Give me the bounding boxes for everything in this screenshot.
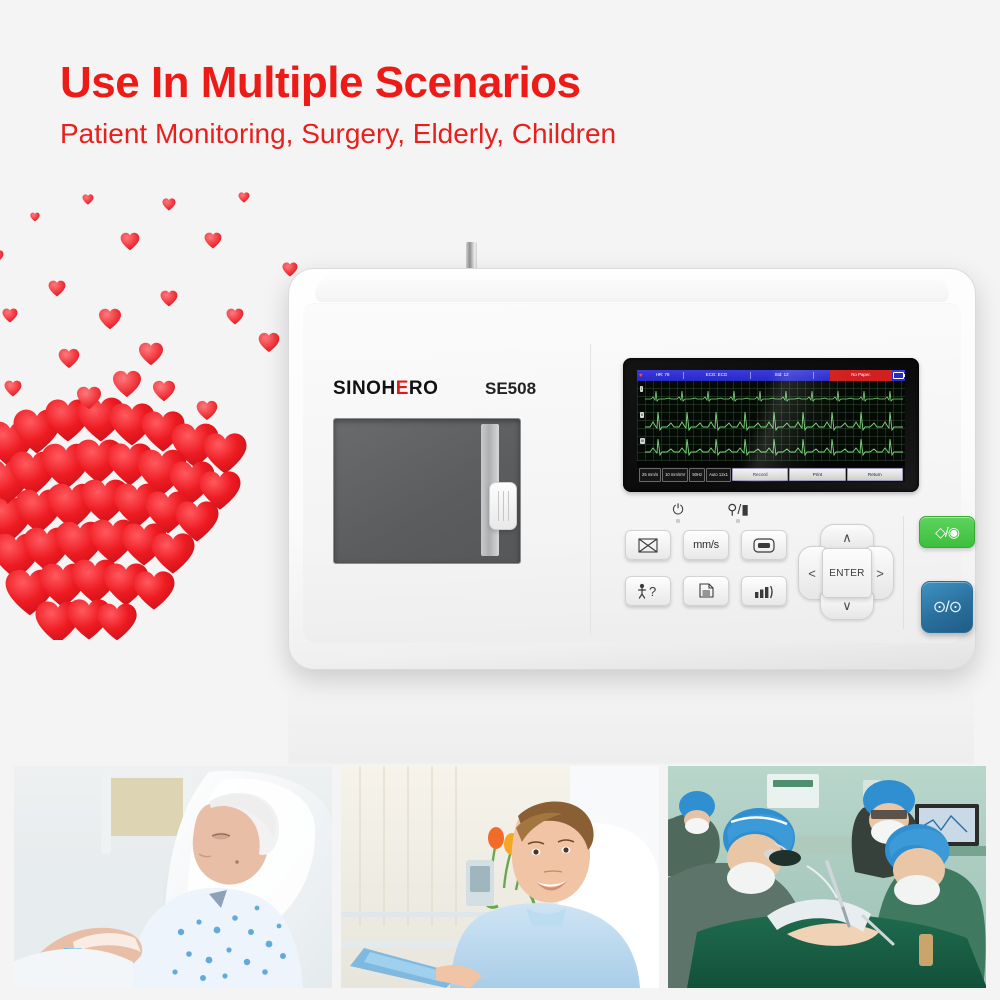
lead-grid-icon [638,538,658,553]
device-top-lip [315,276,949,302]
auto-manual-button[interactable]: ⊙/⊙ [921,581,973,633]
photo-elderly-patient [14,766,332,988]
patient-question-icon: ? [636,583,660,599]
ecg-lead-row: II [637,409,905,435]
display-mode-button[interactable] [741,530,787,560]
model-label: SE508 [485,379,536,399]
brand-suffix: RO [409,378,439,399]
ecg-waveform-area: I II III [637,381,905,461]
gain-bars-icon [753,584,775,599]
right-divider [903,516,904,629]
ecg-trace-lead-ii [645,409,903,435]
start-stop-button[interactable]: ◇/◉ [919,516,975,548]
status-hr: HR: 78 [643,370,683,381]
lcd-status-bar: ♥ HR: 78 ECG: ECG Std: 12 No Paper. [637,370,905,381]
page-title: Use In Multiple Scenarios [60,60,616,106]
navigation-dpad: ∧ < > ∨ ENTER [798,524,894,620]
photo-surgery [668,766,986,988]
lead-select-button[interactable] [625,530,671,560]
power-icon: ⏻ [655,502,701,517]
photo-child-patient [341,766,659,988]
lcd-param-filter[interactable]: 50Hz [689,468,705,482]
power-led [676,519,680,523]
ac-battery-icon: ⚲/▮ [715,502,761,517]
lcd-screen[interactable]: ♥ HR: 78 ECG: ECG Std: 12 No Paper. I [637,370,905,482]
front-panel: SINOHERO SE508 ♥ HR: 78 ECG: ECG Std: 12 [303,303,961,643]
print-button[interactable] [683,576,729,606]
svg-text:?: ? [649,584,656,599]
lcd-param-mode[interactable]: Auto 12x1 [706,468,731,482]
lcd-param-speed[interactable]: 25 mm/s [639,468,661,482]
patient-info-button[interactable]: ? [625,576,671,606]
ecg-device: SINOHERO SE508 ♥ HR: 78 ECG: ECG Std: 12 [270,230,990,750]
gain-button[interactable] [741,576,787,606]
panel-divider [590,344,591,635]
ecg-trace-lead-iii [645,435,903,461]
lcd-bezel: ♥ HR: 78 ECG: ECG Std: 12 No Paper. I [623,358,919,492]
paper-speed-button[interactable]: mm/s [683,530,729,560]
status-lead-std: Std: 12 [751,370,813,381]
lcd-softkey-record[interactable]: Record [732,468,788,481]
lcd-param-gain[interactable]: 10 mm/mV [662,468,688,482]
brand-highlight-letter: E [396,378,409,399]
device-reflection [288,674,974,764]
elderly-patient-illustration [14,766,332,988]
status-mode: ECG: ECG [684,370,750,381]
status-blank [814,370,830,381]
ac-battery-led [736,519,740,523]
surgery-illustration [668,766,986,988]
power-indicator: ⏻ [655,502,701,523]
lead-label: II [640,412,644,418]
brand-prefix: SINOH [333,378,396,399]
battery-icon [892,372,905,379]
display-icon [753,538,775,553]
printer-door-latch[interactable] [489,482,517,530]
brand-row: SINOHERO SE508 [333,378,583,402]
brand-logo: SINOHERO [333,378,438,400]
child-patient-illustration [341,766,659,988]
enter-button[interactable]: ENTER [822,548,872,598]
scenario-photo-strip [14,766,986,988]
document-icon [698,583,715,600]
keypad: mm/s ? [625,530,785,618]
lead-label: I [640,386,643,392]
ac-battery-indicator: ⚲/▮ [715,502,761,523]
indicator-row: ⏻ ⚲/▮ [655,502,805,528]
lcd-softkey-print[interactable]: Print [789,468,845,481]
ecg-lead-row: III [637,435,905,461]
device-body: SINOHERO SE508 ♥ HR: 78 ECG: ECG Std: 12 [288,268,976,670]
ecg-trace-lead-i [645,383,903,409]
lcd-softkey-return[interactable]: Return [847,468,903,481]
ecg-lead-row: I [637,383,905,409]
page-subtitle: Patient Monitoring, Surgery, Elderly, Ch… [60,118,616,150]
status-alarm-text: No Paper. [830,370,892,381]
headline-block: Use In Multiple Scenarios Patient Monito… [60,60,616,150]
lcd-button-bar: 25 mm/s 10 mm/mV 50Hz Auto 12x1 Record P… [637,467,905,482]
